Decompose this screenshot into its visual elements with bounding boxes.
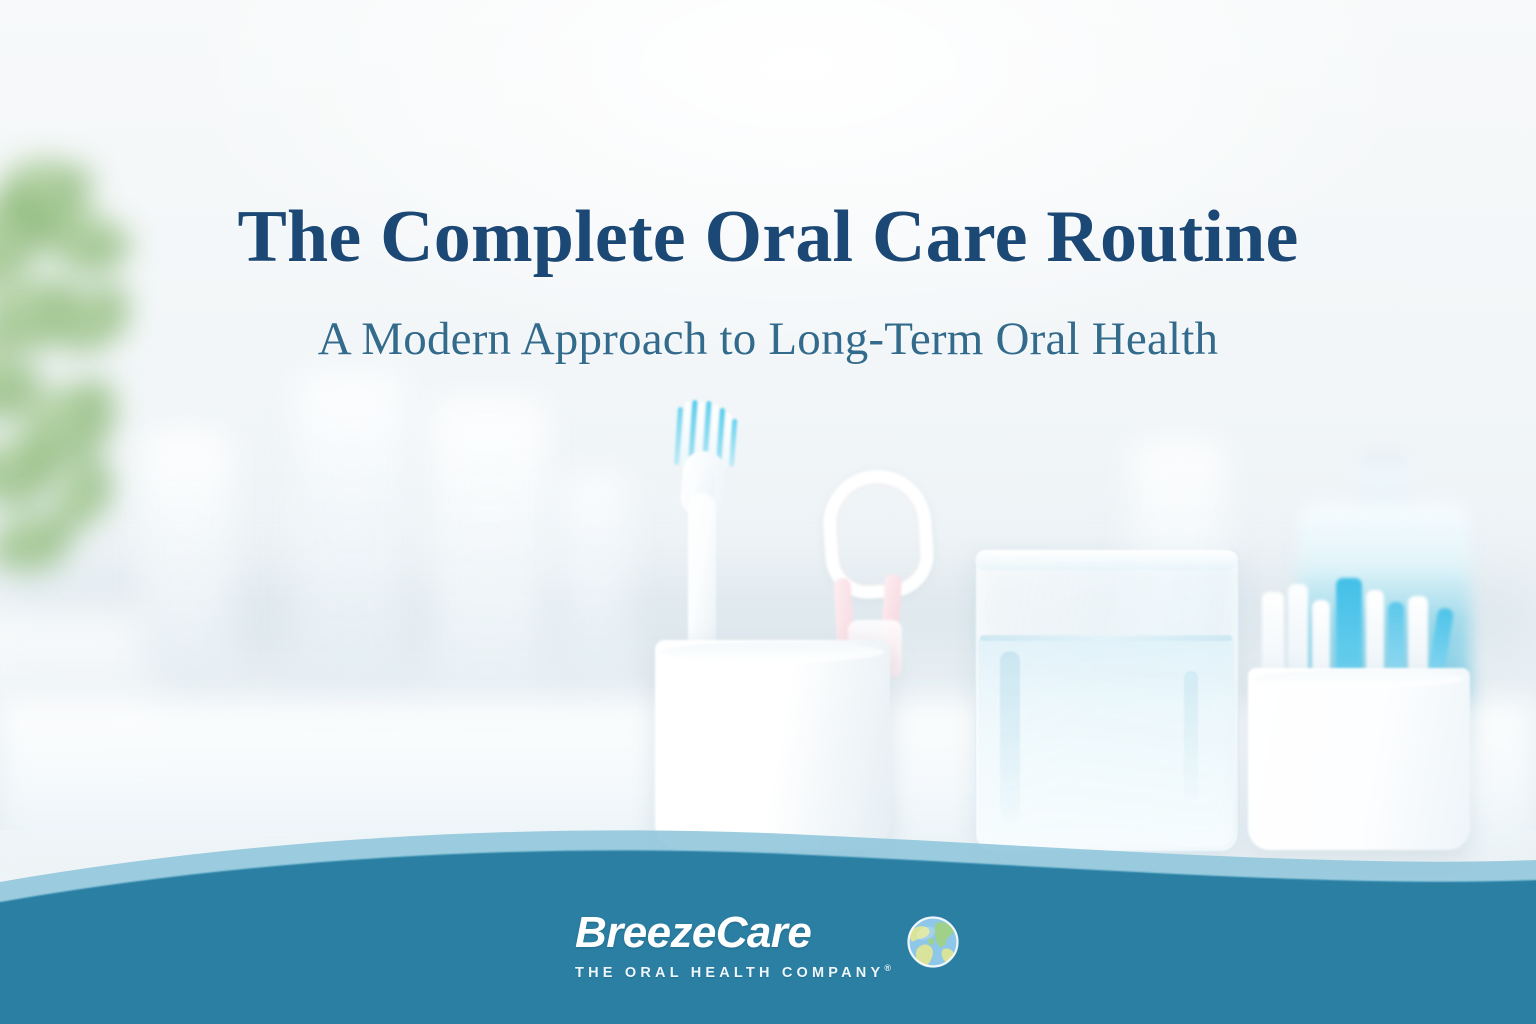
- page-subtitle: A Modern Approach to Long-Term Oral Heal…: [0, 312, 1536, 366]
- logo-wordmark: BreezeCare: [575, 911, 811, 955]
- title-slide: The Complete Oral Care Routine A Modern …: [0, 0, 1536, 1024]
- toothbrush: [668, 395, 738, 665]
- logo-tagline-text: THE ORAL HEALTH COMPANY: [575, 965, 884, 981]
- page-title: The Complete Oral Care Routine: [0, 198, 1536, 276]
- registered-mark: ®: [884, 963, 891, 973]
- globe-icon: [905, 914, 961, 970]
- logo-text-block: BreezeCare THE ORAL HEALTH COMPANY®: [575, 911, 891, 980]
- logo-tagline: THE ORAL HEALTH COMPANY®: [575, 964, 891, 980]
- brand-logo[interactable]: BreezeCare THE ORAL HEALTH COMPANY®: [0, 911, 1536, 980]
